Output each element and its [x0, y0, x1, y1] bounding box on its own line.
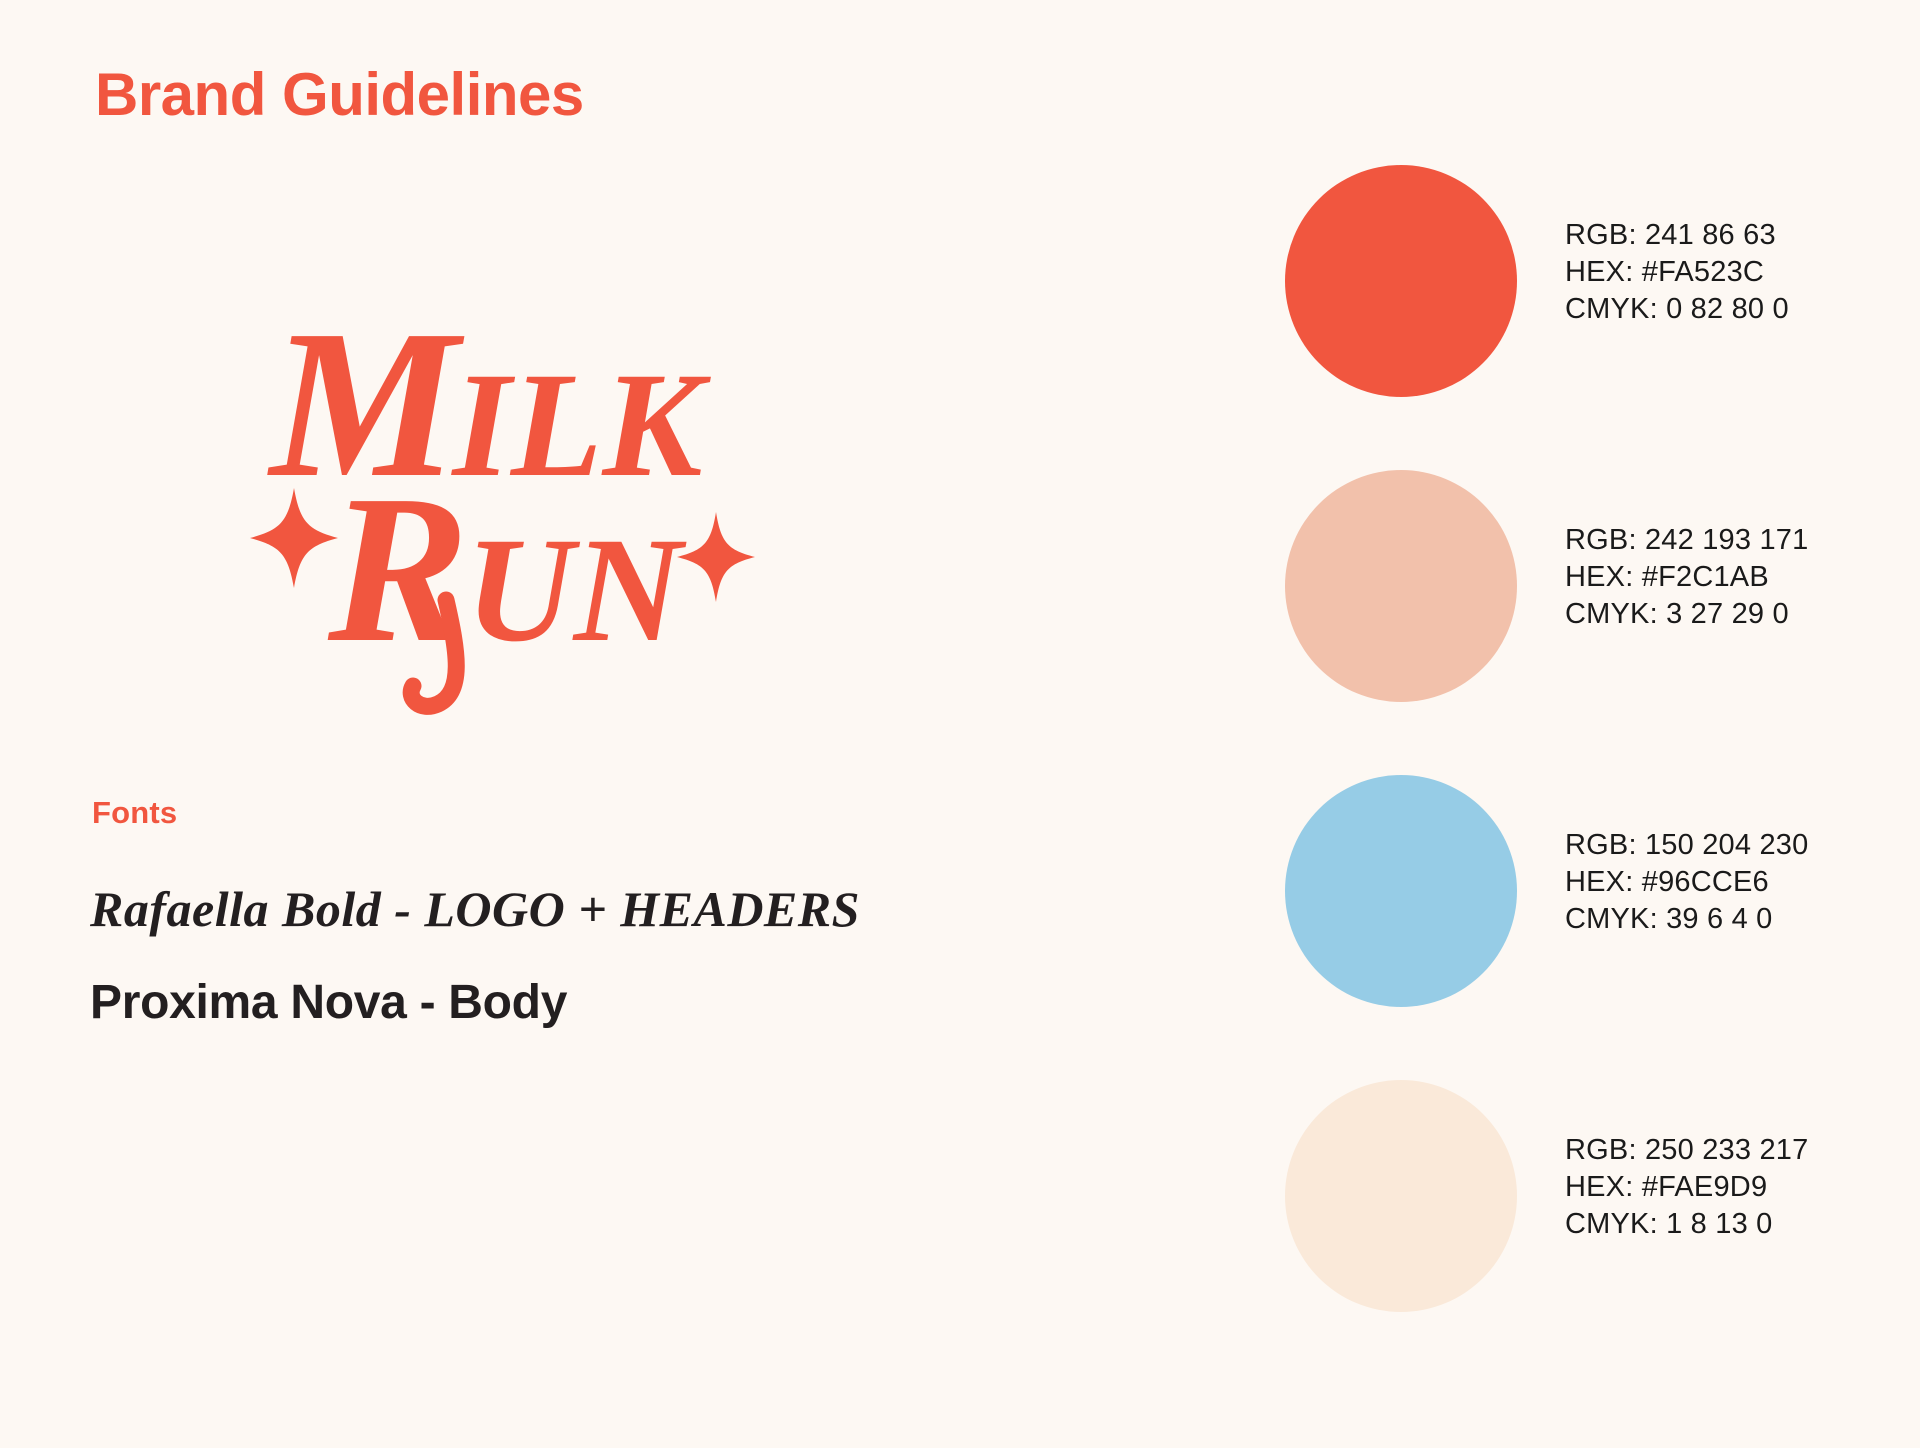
swatch-rgb-label: RGB: 242 193 171	[1565, 522, 1808, 559]
color-palette: RGB: 241 86 63 HEX: #FA523C CMYK: 0 82 8…	[1285, 165, 1905, 1385]
swatch-cmyk-label: CMYK: 1 8 13 0	[1565, 1206, 1808, 1243]
fonts-section-heading: Fonts	[92, 795, 177, 831]
color-swatch-info: RGB: 242 193 171 HEX: #F2C1AB CMYK: 3 27…	[1565, 522, 1808, 633]
swatch-row: RGB: 242 193 171 HEX: #F2C1AB CMYK: 3 27…	[1285, 470, 1905, 775]
swatch-rgb-label: RGB: 250 233 217	[1565, 1132, 1808, 1169]
swatch-hex-label: HEX: #96CCE6	[1565, 864, 1808, 901]
swatch-row: RGB: 250 233 217 HEX: #FAE9D9 CMYK: 1 8 …	[1285, 1080, 1905, 1385]
color-swatch-circle[interactable]	[1285, 775, 1517, 1007]
swatch-row: RGB: 150 204 230 HEX: #96CCE6 CMYK: 39 6…	[1285, 775, 1905, 1080]
color-swatch-info: RGB: 241 86 63 HEX: #FA523C CMYK: 0 82 8…	[1565, 217, 1789, 328]
brand-guidelines-page: Brand Guidelines MILK RUN Fonts Rafaella…	[0, 0, 1920, 1448]
swatch-rgb-label: RGB: 241 86 63	[1565, 217, 1789, 254]
swatch-hex-label: HEX: #F2C1AB	[1565, 559, 1808, 596]
color-swatch-circle[interactable]	[1285, 165, 1517, 397]
swatch-cmyk-label: CMYK: 39 6 4 0	[1565, 901, 1808, 938]
color-swatch-info: RGB: 250 233 217 HEX: #FAE9D9 CMYK: 1 8 …	[1565, 1132, 1808, 1243]
logo-lockup: MILK RUN	[250, 300, 890, 720]
color-swatch-circle[interactable]	[1285, 1080, 1517, 1312]
page-title: Brand Guidelines	[95, 62, 584, 128]
color-swatch-circle[interactable]	[1285, 470, 1517, 702]
color-swatch-info: RGB: 150 204 230 HEX: #96CCE6 CMYK: 39 6…	[1565, 827, 1808, 938]
swatch-cmyk-label: CMYK: 0 82 80 0	[1565, 291, 1789, 328]
swatch-hex-label: HEX: #FA523C	[1565, 254, 1789, 291]
display-font-sample: Rafaella Bold - LOGO + HEADERS	[90, 880, 860, 938]
swatch-cmyk-label: CMYK: 3 27 29 0	[1565, 596, 1808, 633]
swatch-row: RGB: 241 86 63 HEX: #FA523C CMYK: 0 82 8…	[1285, 165, 1905, 470]
body-font-sample: Proxima Nova - Body	[90, 975, 567, 1030]
swatch-hex-label: HEX: #FAE9D9	[1565, 1169, 1808, 1206]
swatch-rgb-label: RGB: 150 204 230	[1565, 827, 1808, 864]
sparkle-icon	[677, 512, 755, 602]
